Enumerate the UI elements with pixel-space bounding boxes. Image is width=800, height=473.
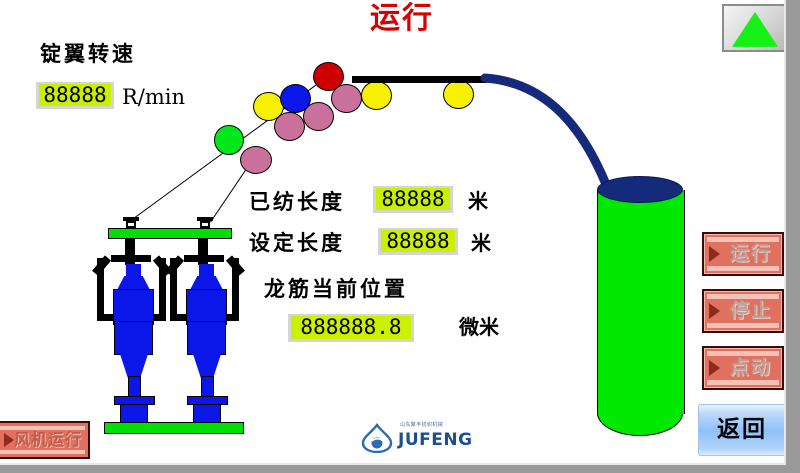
bobbin-left-cone xyxy=(117,276,150,290)
lower-platform xyxy=(104,422,244,434)
stop-button[interactable]: 停止 xyxy=(702,289,784,333)
bolt-right-stem xyxy=(200,221,210,228)
run-button[interactable]: 运行 xyxy=(702,232,784,276)
logo-wordmark: JUFENG xyxy=(398,431,473,449)
ball-pink-1 xyxy=(240,146,272,174)
fan-run-button-shadow xyxy=(0,450,85,454)
bobbin-left-neck xyxy=(126,264,141,278)
stop-button-shadow xyxy=(707,323,779,328)
bobbin-left-lower xyxy=(114,321,153,355)
spun-length-label: 已纺长度 xyxy=(249,190,345,214)
triangle-up-icon xyxy=(732,12,778,47)
spindle-speed-value[interactable]: 88888 xyxy=(36,82,114,109)
run-button-label: 运行 xyxy=(724,244,778,265)
window-right-edge[interactable] xyxy=(786,0,800,473)
spindle-speed-unit: R/min xyxy=(122,86,185,108)
flyer-left-top xyxy=(111,255,151,262)
jufeng-mark-icon xyxy=(360,423,394,453)
jog-button-shadow xyxy=(707,380,779,385)
window-bottom-edge[interactable] xyxy=(0,465,800,473)
rail-position-label: 龙筋当前位置 xyxy=(264,277,408,301)
bobbin-right-taper xyxy=(193,354,221,378)
run-button-shadow xyxy=(707,266,779,271)
run-button-highlight xyxy=(707,237,779,242)
bobbin-right-lower xyxy=(187,321,226,355)
fan-run-button-label: 风机运行 xyxy=(10,431,86,449)
set-length-label: 设定长度 xyxy=(249,231,345,255)
set-length-value-text: 88888 xyxy=(381,230,455,252)
rail-position-value[interactable]: 888888.8 xyxy=(288,314,414,342)
arrow-right-icon xyxy=(709,246,720,262)
arrow-right-icon xyxy=(709,303,720,319)
rail-position-unit: 微米 xyxy=(459,316,499,338)
ball-pink-2 xyxy=(274,112,305,141)
can-top-ellipse xyxy=(597,176,683,203)
fan-run-button[interactable]: 风机运行 xyxy=(0,421,90,459)
up-button[interactable] xyxy=(722,4,788,52)
bobbin-right-neck xyxy=(199,264,214,278)
set-length-value[interactable]: 88888 xyxy=(378,228,458,255)
jog-button-highlight xyxy=(707,351,779,356)
stop-button-label: 停止 xyxy=(724,301,778,322)
jog-button-label: 点动 xyxy=(724,358,778,379)
jog-button[interactable]: 点动 xyxy=(702,346,784,390)
spindle-speed-value-text: 88888 xyxy=(39,84,111,106)
can-body xyxy=(597,190,685,414)
brand-logo: 山东聚丰纺织机械 JUFENG xyxy=(360,420,470,454)
ball-yellow-2 xyxy=(361,81,392,110)
flyer-right-diagR xyxy=(226,255,245,275)
back-button[interactable]: 返回 xyxy=(698,404,786,456)
bobbin-right-barrel xyxy=(186,289,227,325)
arrow-right-icon xyxy=(709,360,720,376)
upper-platform xyxy=(108,228,232,239)
spun-length-unit: 米 xyxy=(468,190,488,212)
flyer-right-top xyxy=(184,255,224,262)
rail-position-value-text: 888888.8 xyxy=(291,316,411,339)
spun-length-value-text: 88888 xyxy=(376,188,450,210)
logo-subtitle: 山东聚丰纺织机械 xyxy=(400,422,443,428)
ball-green xyxy=(214,125,244,155)
ball-pink-3 xyxy=(303,102,334,131)
bobbin-right-pedestal xyxy=(193,404,221,423)
bobbin-left-pedestal xyxy=(120,404,148,423)
bobbin-right-foot xyxy=(201,376,214,398)
bobbin-right-cone xyxy=(190,276,223,290)
stop-button-highlight xyxy=(707,294,779,299)
status-title: 运行 xyxy=(322,2,482,36)
bobbin-left-barrel xyxy=(113,289,154,325)
set-length-unit: 米 xyxy=(471,232,491,254)
spun-length-value[interactable]: 88888 xyxy=(373,186,453,213)
back-button-label: 返回 xyxy=(699,418,785,443)
ball-pink-4 xyxy=(331,84,362,113)
bobbin-left-taper xyxy=(120,354,148,378)
roller-bar xyxy=(352,76,487,83)
hmi-screen: 运行 锭翼转速 88888 R/min xyxy=(0,0,800,473)
bobbin-left-foot xyxy=(128,376,141,398)
spindle-speed-label: 锭翼转速 xyxy=(40,42,136,66)
bolt-left-stem xyxy=(126,221,136,228)
